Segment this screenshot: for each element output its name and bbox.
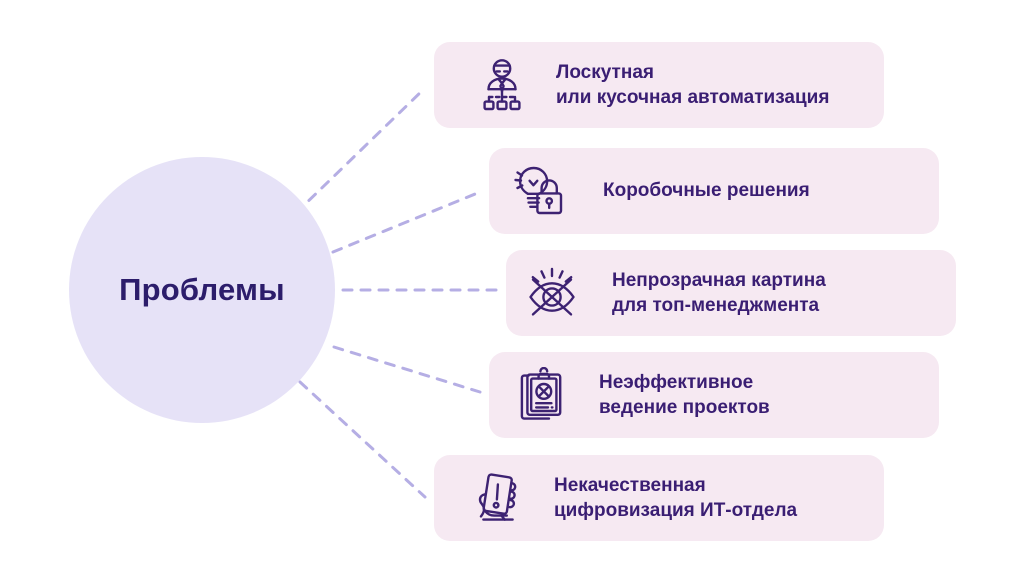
manager-org-chart-icon xyxy=(470,53,534,117)
problem-card-5-label: Некачественная цифровизация ИТ-отдела xyxy=(554,473,797,523)
hub-circle: Проблемы xyxy=(69,157,335,423)
lightbulb-lock-icon xyxy=(507,159,571,223)
connector-hub-to-card-5 xyxy=(300,382,425,497)
clipboard-error-icon xyxy=(509,363,573,427)
hub-label: Проблемы xyxy=(119,272,285,308)
problem-card-5[interactable]: Некачественная цифровизация ИТ-отдела xyxy=(434,455,884,541)
problem-card-3-label: Непрозрачная картина для топ-менеджмента xyxy=(612,268,826,318)
problem-card-2-label: Коробочные решения xyxy=(603,178,810,203)
hand-phone-alert-icon xyxy=(466,466,530,530)
problem-card-4-label: Неэффективное ведение проектов xyxy=(599,370,770,420)
connector-hub-to-card-4 xyxy=(334,347,480,392)
problem-card-2[interactable]: Коробочные решения xyxy=(489,148,939,234)
crossed-eye-icon xyxy=(520,261,584,325)
diagram-canvas: Проблемы xyxy=(0,0,1024,576)
connector-hub-to-card-1 xyxy=(296,88,425,213)
problem-card-1-label: Лоскутная или кусочная автоматизация xyxy=(556,60,829,110)
problem-card-3[interactable]: Непрозрачная картина для топ-менеджмента xyxy=(506,250,956,336)
problem-card-1[interactable]: Лоскутная или кусочная автоматизация xyxy=(434,42,884,128)
connector-hub-to-card-2 xyxy=(333,192,480,252)
problem-card-4[interactable]: Неэффективное ведение проектов xyxy=(489,352,939,438)
